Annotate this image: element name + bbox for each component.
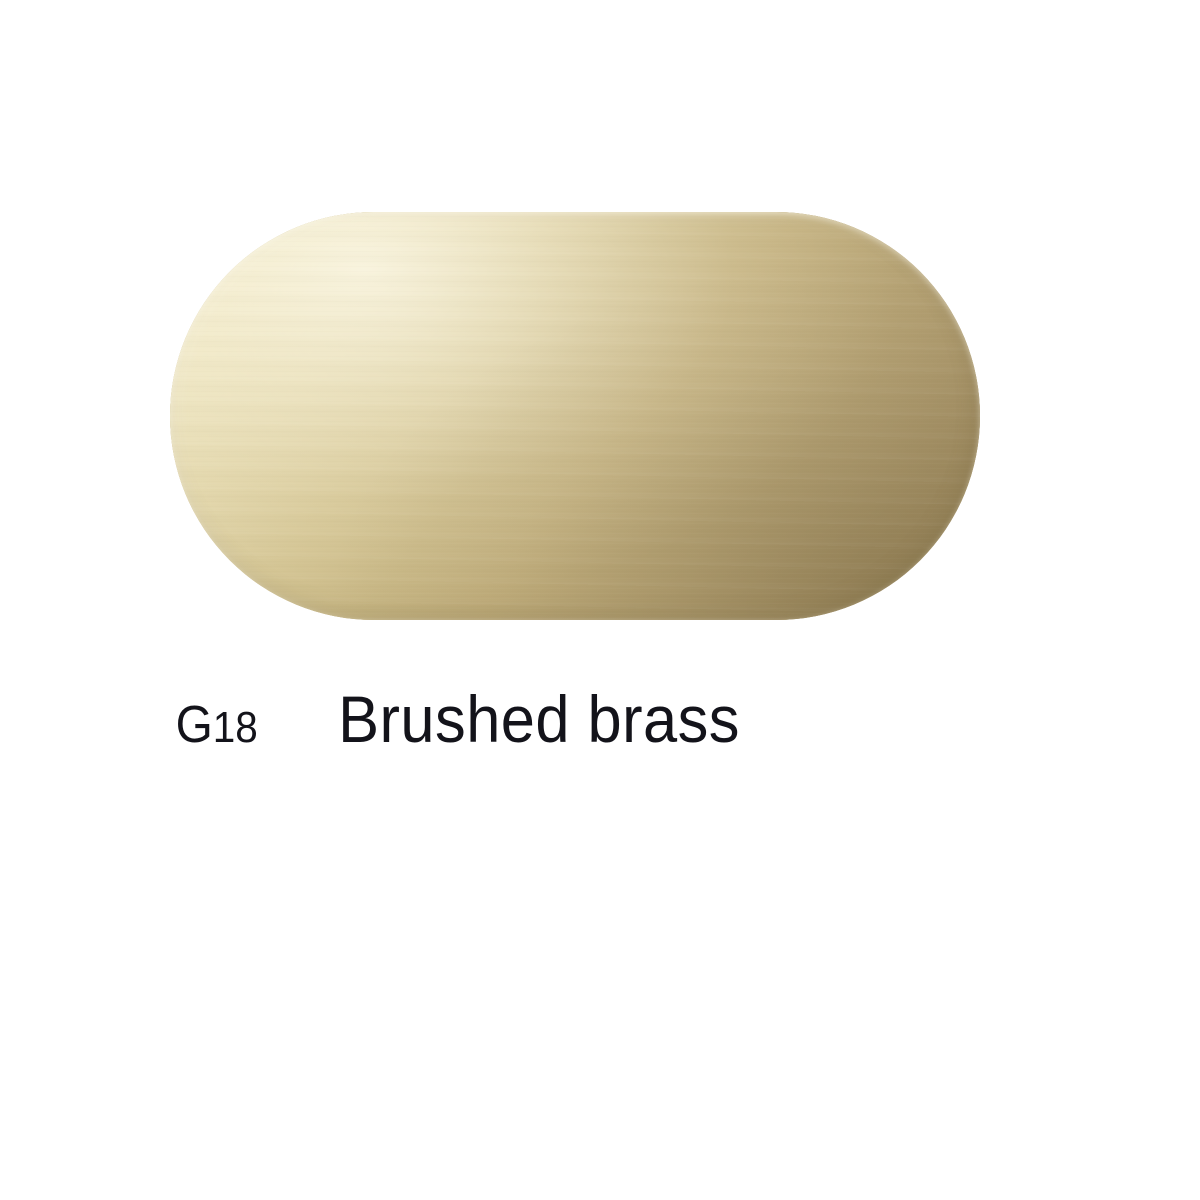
swatch-edge-shading: [170, 212, 980, 620]
swatch-code: G18: [176, 699, 258, 751]
swatch-chip: [170, 212, 980, 620]
color-swatch-card: G18 Brushed brass: [0, 0, 1200, 1200]
brass-sample-swatch[interactable]: [170, 212, 980, 620]
swatch-name: Brushed brass: [339, 686, 741, 752]
swatch-code-digits: 18: [213, 703, 258, 752]
swatch-code-letter: G: [176, 696, 213, 754]
swatch-caption: G18 Brushed brass: [172, 686, 1052, 760]
